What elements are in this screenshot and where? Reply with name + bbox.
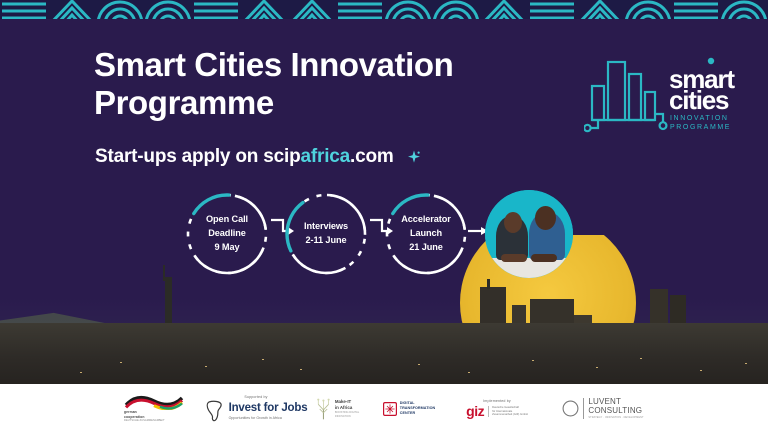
footer-logo-bar: german cooperation DEUTSCHE ZUSAMMENARBE… [0,385,768,432]
circle-icon [562,400,579,417]
step-line3: 9 May [214,241,239,255]
africa-outline-icon [205,400,225,422]
luvent-subtitle: STRATEGY · INNOVATION · DEVELOPMENT [588,416,643,419]
poster-canvas: Smart Cities Innovation Programme Start-… [0,0,768,432]
step-line2: 2-11 June [306,234,347,248]
german-subtitle: DEUTSCHE ZUSAMMENARBEIT [124,419,165,423]
timeline: Open Call Deadline 9 May Int [183,186,583,282]
city-skyline-icon [584,62,666,131]
logo-luvent-consulting: LUVENT CONSULTING STRATEGY · INNOVATION … [549,385,657,432]
logo-tagline-line1: INNOVATION [670,115,729,122]
person-left-head [504,212,522,233]
luvent-line2: CONSULTING [588,407,643,415]
dtc-square-icon [383,402,397,416]
timeline-step-open-call[interactable]: Open Call Deadline 9 May [183,190,271,278]
step-line1: Open Call [206,213,248,227]
makeit-subtitle: BOOSTING DIGITAL INNOVATION [335,411,373,417]
decorative-pattern-band [0,0,768,22]
participants-photo [485,190,573,278]
scip-logo: smart cities INNOVATION PROGRAMME [584,52,744,136]
step-line2: Launch [410,227,442,241]
step-line2: Deadline [208,227,246,241]
subtitle-prefix: Start-ups apply on scip [95,146,301,167]
logo-invest-for-jobs: Supported by Invest for Jobs Opportuniti… [197,385,315,432]
ifj-subtitle: Opportunities for Growth in Africa [229,416,308,420]
implemented-by-caption: Implemented by [483,399,511,403]
step-label: Accelerator Launch 21 June [382,190,470,278]
antenna [163,265,165,281]
arc-pattern-icon [0,0,768,22]
tree-icon [315,397,332,421]
timeline-step-interviews[interactable]: Interviews 2-11 June [282,190,370,278]
dtc-line3: CENTER [400,411,435,416]
step-line3: 21 June [409,241,443,255]
logo-giz: Implemented by giz Deutsche Gesellschaft… [445,385,549,432]
giz-wordmark: giz [466,405,484,418]
logo-make-it-in-africa: Make-IT in Africa BOOSTING DIGITAL INNOV… [315,385,373,432]
step-label: Open Call Deadline 9 May [183,190,271,278]
subtitle-suffix: .com [350,146,394,167]
subtitle-cta: Start-ups apply on scipafrica.com [95,146,422,168]
person-right-arm [531,254,557,262]
logo-line2: cities [669,85,729,115]
page-title: Smart Cities Innovation Programme [94,46,534,123]
logo-digital-transformation-center: DIGITAL TRANSFORMATION CENTER [373,385,445,432]
supported-by-caption: Supported by [244,395,267,399]
logo-german-cooperation: german cooperation DEUTSCHE ZUSAMMENARBE… [111,385,197,432]
logo-tagline-line2: PROGRAMME [670,124,731,131]
subtitle-accent: africa [301,146,351,167]
person-right-head [535,206,556,230]
step-line1: Interviews [304,220,348,234]
subtitle-text: Start-ups apply on scipafrica.com [95,146,394,168]
step-line1: Accelerator [401,213,450,227]
german-flag-swoosh-icon [124,394,184,410]
makeit-line2: in Africa [335,405,373,411]
ifj-title: Invest for Jobs [229,403,308,415]
person-left-arm [501,254,527,262]
giz-desc-line3: Zusammenarbeit (GIZ) GmbH [492,413,528,417]
step-label: Interviews 2-11 June [282,190,370,278]
timeline-step-accelerator-launch[interactable]: Accelerator Launch 21 June [382,190,470,278]
sparkle-icon [406,149,422,165]
city-foreground [0,323,768,385]
